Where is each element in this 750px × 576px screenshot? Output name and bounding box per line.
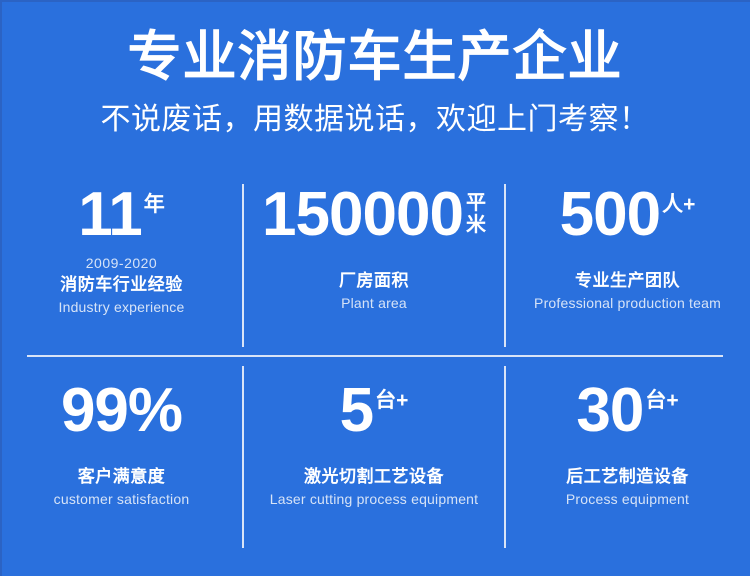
stat-label-en: customer satisfaction [0,490,243,509]
stat-unit: 台+ [373,376,408,411]
stat-year-range: 2009-2020 [0,254,243,272]
stat-value: 11 [78,180,142,250]
stat-label-en: Plant area [243,294,505,313]
stat-cell-laser-cutting-equipment: 5 台+ 激光切割工艺设备 Laser cutting process equi… [243,376,505,552]
stat-label-cn: 客户满意度 [0,466,243,488]
stats-row-top: 11 年 2009-2020 消防车行业经验 Industry experien… [0,180,750,356]
stat-value: 500 [560,180,660,250]
stat-unit: 年 [142,180,165,215]
stat-unit-bottom: 米 [466,214,486,236]
stat-label-en: Industry experience [0,298,243,317]
divider-vertical-right-top [504,184,506,347]
stat-label-cn: 后工艺制造设备 [505,466,750,488]
stat-value: 99% [61,376,182,446]
promo-banner: 专业消防车生产企业 不说废话，用数据说话，欢迎上门考察！ 11 年 2009-2… [0,0,750,576]
stat-label-en: Process equipment [505,490,750,509]
stat-value-line: 5 台+ [243,376,505,448]
banner-header: 专业消防车生产企业 不说废话，用数据说话，欢迎上门考察！ [0,26,750,140]
stat-value-line: 30 台+ [505,376,750,448]
stat-unit: 台+ [643,376,678,411]
stats-row-bottom: 99% 客户满意度 customer satisfaction 5 台+ 激光切… [0,376,750,552]
stat-label-cn: 厂房面积 [243,270,505,292]
stat-value-line: 150000 平 米 [243,180,505,252]
stat-value-line: 11 年 [0,180,243,252]
stat-value: 5 [340,376,373,446]
stat-cell-industry-experience: 11 年 2009-2020 消防车行业经验 Industry experien… [0,180,243,356]
stat-label-cn: 激光切割工艺设备 [243,466,505,488]
stat-value-line: 500 人+ [505,180,750,252]
stat-value: 30 [576,376,643,446]
stat-cell-process-equipment: 30 台+ 后工艺制造设备 Process equipment [505,376,750,552]
stat-label-en: Laser cutting process equipment [243,490,505,509]
divider-horizontal [27,355,723,357]
divider-vertical-left-bottom [242,366,244,548]
stat-cell-production-team: 500 人+ 专业生产团队 Professional production te… [505,180,750,356]
stat-unit-top: 平 [466,192,486,214]
stats-grid: 11 年 2009-2020 消防车行业经验 Industry experien… [0,180,750,556]
stat-value: 150000 [262,180,463,250]
stat-label-en: Professional production team [505,294,750,313]
stat-value-line: 99% [0,376,243,448]
stat-label-cn: 消防车行业经验 [0,274,243,296]
stat-unit: 人+ [660,180,695,215]
page-title: 专业消防车生产企业 [0,26,750,88]
divider-vertical-right-bottom [504,366,506,548]
page-subtitle: 不说废话，用数据说话，欢迎上门考察！ [0,100,750,140]
stat-label-cn: 专业生产团队 [505,270,750,292]
stat-unit-stacked: 平 米 [463,180,486,236]
stat-cell-plant-area: 150000 平 米 厂房面积 Plant area [243,180,505,356]
stat-cell-customer-satisfaction: 99% 客户满意度 customer satisfaction [0,376,243,552]
divider-vertical-left-top [242,184,244,347]
